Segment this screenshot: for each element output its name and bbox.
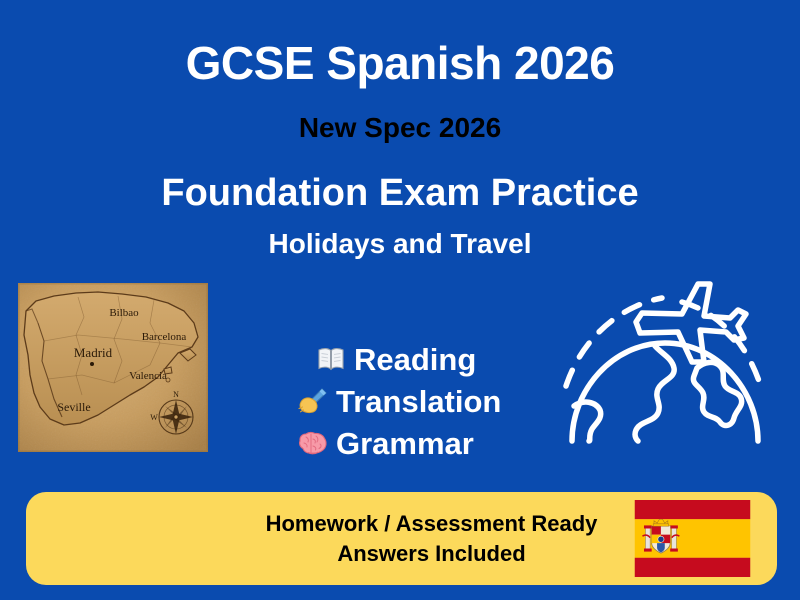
feature-item-grammar: Grammar (296, 422, 526, 464)
feature-item-reading: Reading (296, 338, 526, 380)
feature-label-translation: Translation (336, 386, 501, 417)
compass-west-label: W (150, 413, 158, 422)
map-city-label-valencia: Valencia (129, 370, 167, 382)
feature-item-translation: Translation (296, 380, 526, 422)
feature-label-grammar: Grammar (336, 428, 474, 459)
feature-label-reading: Reading (354, 344, 476, 375)
brain-icon (298, 428, 328, 458)
spec-subtitle: New Spec 2026 (0, 114, 800, 142)
map-city-label-madrid: Madrid (74, 345, 113, 360)
header-block: GCSE Spanish 2026 New Spec 2026 Foundati… (0, 0, 800, 258)
globe-with-airplane-icon (558, 258, 773, 463)
map-city-label-bilbao: Bilbao (109, 307, 139, 319)
globe-continent-right (693, 362, 741, 425)
globe-continent-center (635, 346, 674, 441)
open-book-icon (316, 344, 346, 374)
topic-heading: Holidays and Travel (0, 230, 800, 258)
writing-hand-icon (298, 386, 328, 416)
feature-list: Reading Translation Grammar (296, 338, 526, 464)
map-city-dot-madrid (90, 362, 94, 366)
map-city-label-seville: Seville (57, 400, 90, 414)
info-banner: Homework / Assessment Ready Answers Incl… (26, 492, 777, 585)
page-title: GCSE Spanish 2026 (0, 40, 800, 86)
map-city-label-barcelona: Barcelona (142, 331, 187, 343)
airplane-icon (636, 284, 746, 362)
compass-north-label: N (173, 390, 179, 399)
spanish-flag-icon (620, 500, 765, 577)
spain-map-svg: Bilbao Barcelona Madrid Valencia Seville… (18, 283, 208, 452)
spain-map-image: Bilbao Barcelona Madrid Valencia Seville… (18, 283, 208, 452)
section-heading: Foundation Exam Practice (0, 174, 800, 212)
